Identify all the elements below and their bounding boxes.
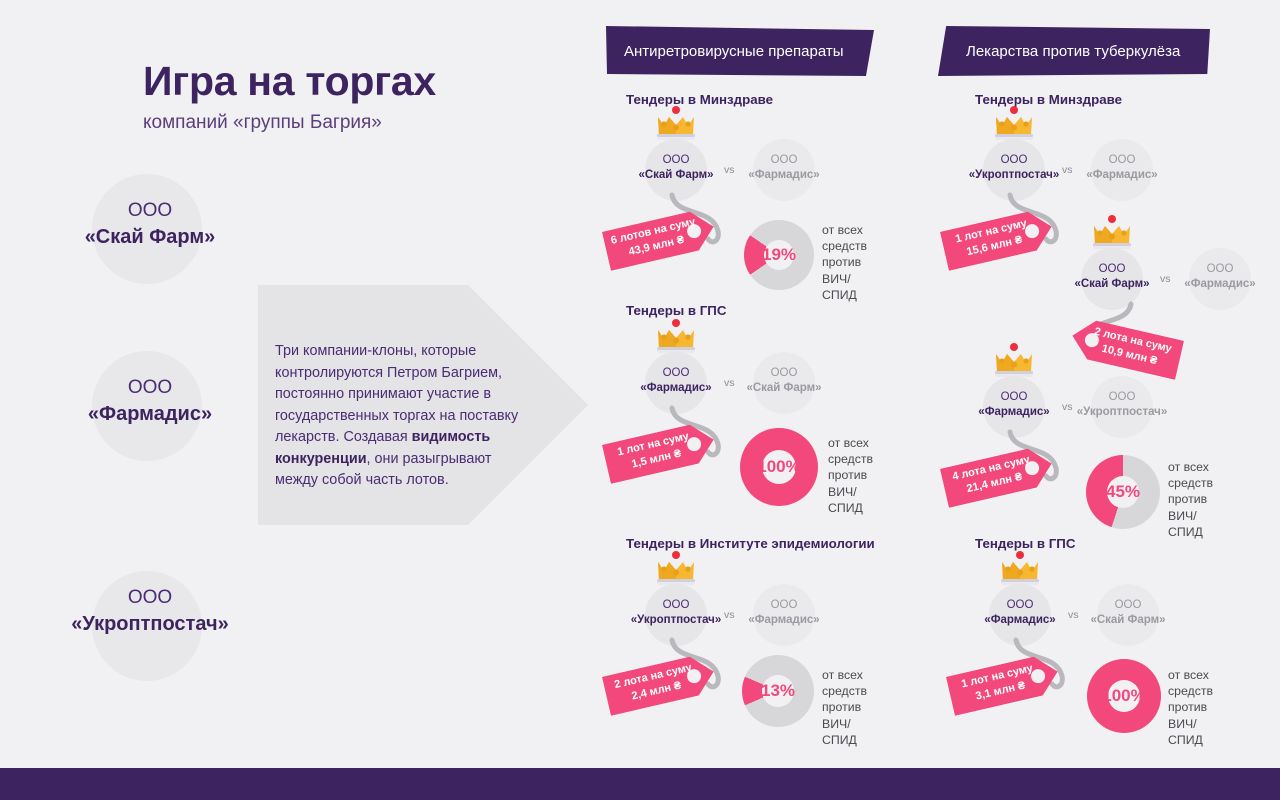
price-tag: 1 лот на суму 3,1 млн ₴ (946, 652, 1062, 716)
company-label-2: ООО «Фармадис» (0, 375, 300, 428)
donut-hole: 100% (1108, 680, 1141, 713)
donut-legend-line: ВИЧ/СПИД (1168, 508, 1213, 540)
footer-bar (0, 768, 1280, 800)
donut-legend-line: от всех (822, 222, 867, 238)
vs-label: vs (724, 164, 735, 176)
price-tag: 2 лота на суму 2,4 млн ₴ (602, 652, 718, 716)
company-label-1: ООО «Скай Фарм» (0, 198, 300, 251)
donut-legend: от всехсредствпротивВИЧ/СПИД (822, 222, 867, 303)
donut-percent-label: 19% (762, 245, 796, 265)
donut-hole: 19% (764, 240, 795, 271)
page-subtitle: компаний «группы Багрия» (143, 112, 382, 134)
donut-percent-label: 13% (761, 681, 795, 701)
donut-legend-line: средств (822, 683, 867, 699)
vs-label: vs (1062, 401, 1073, 413)
column-1-banner: Антиретровирусные препараты (606, 26, 874, 76)
page-title: Игра на торгах (143, 58, 436, 105)
block-heading: Тендеры в Минздраве (626, 92, 773, 107)
crown-icon (992, 343, 1036, 379)
company-3-line1: ООО (0, 585, 300, 611)
donut-percent-label: 100% (757, 457, 800, 477)
company-1-line2: «Скай Фарм» (0, 224, 300, 251)
donut-legend-line: от всех (822, 667, 867, 683)
donut-legend: от всехсредствпротивВИЧ/СПИД (1168, 459, 1213, 540)
donut-legend-line: ВИЧ/СПИД (822, 271, 867, 303)
callout-text: Три компании-клоны, которые контролируют… (275, 341, 525, 492)
donut-legend-line: ВИЧ/СПИД (1168, 716, 1213, 748)
crown-icon (654, 319, 698, 355)
donut-legend-line: против (1168, 491, 1213, 507)
donut-legend-line: средств (1168, 683, 1213, 699)
crown-icon (998, 551, 1042, 587)
block-heading: Тендеры в Институте эпидемиологии (626, 536, 875, 551)
price-tag: 1 лот на суму 1,5 млн ₴ (602, 420, 718, 484)
price-tag: 1 лот на суму 15,6 млн ₴ (940, 207, 1056, 271)
company-1-line1: ООО (0, 198, 300, 224)
donut-legend-line: от всех (1168, 667, 1213, 683)
donut-legend: от всехсредствпротивВИЧ/СПИД (828, 435, 873, 516)
loser-circle[interactable] (753, 584, 815, 646)
donut-legend-line: против (828, 467, 873, 483)
donut-legend: от всехсредствпротивВИЧ/СПИД (822, 667, 867, 748)
block-heading: Тендеры в ГПС (975, 536, 1075, 551)
price-tag: 4 лота на суму 21,4 млн ₴ (940, 444, 1056, 508)
donut-legend-line: ВИЧ/СПИД (828, 484, 873, 516)
vs-label: vs (1160, 273, 1171, 285)
crown-icon (1090, 215, 1134, 251)
donut-legend: от всехсредствпротивВИЧ/СПИД (1168, 667, 1213, 748)
column-2-banner: Лекарства против туберкулёза (938, 26, 1210, 76)
donut-legend-line: средств (822, 238, 867, 254)
company-3-line2: «Укроптпостач» (0, 611, 300, 638)
block-heading: Тендеры в ГПС (626, 303, 726, 318)
donut-percent-label: 100% (1102, 686, 1145, 706)
company-2-line2: «Фармадис» (0, 401, 300, 428)
loser-circle[interactable] (1091, 376, 1153, 438)
donut-legend-line: против (1168, 699, 1213, 715)
vs-label: vs (1068, 609, 1079, 621)
donut-legend-line: средств (1168, 475, 1213, 491)
donut-chart: 45% (1086, 455, 1160, 529)
vs-label: vs (724, 609, 735, 621)
donut-legend-line: против (822, 254, 867, 270)
column-2-banner-label: Лекарства против туберкулёза (966, 43, 1180, 60)
donut-hole: 13% (762, 675, 794, 707)
crown-icon (654, 551, 698, 587)
crown-icon (654, 106, 698, 142)
crown-icon (992, 106, 1036, 142)
donut-legend-line: от всех (1168, 459, 1213, 475)
donut-legend-line: ВИЧ/СПИД (822, 716, 867, 748)
block-heading: Тендеры в Минздраве (975, 92, 1122, 107)
infographic-canvas: Игра на торгах компаний «группы Багрия» … (0, 0, 1280, 800)
loser-circle[interactable] (1097, 584, 1159, 646)
vs-label: vs (724, 377, 735, 389)
column-1-banner-label: Антиретровирусные препараты (624, 43, 844, 60)
loser-circle[interactable] (753, 352, 815, 414)
loser-circle[interactable] (753, 139, 815, 201)
donut-hole: 100% (762, 450, 796, 484)
donut-hole: 45% (1107, 476, 1140, 509)
donut-legend-line: от всех (828, 435, 873, 451)
donut-chart: 13% (742, 655, 814, 727)
donut-chart: 100% (1087, 659, 1161, 733)
company-2-line1: ООО (0, 375, 300, 401)
donut-chart: 19% (744, 220, 814, 290)
vs-label: vs (1062, 164, 1073, 176)
donut-legend-line: средств (828, 451, 873, 467)
price-tag: 6 лотов на суму 43,9 млн ₴ (602, 207, 718, 271)
company-label-3: ООО «Укроптпостач» (0, 585, 300, 638)
donut-percent-label: 45% (1106, 482, 1140, 502)
donut-legend-line: против (822, 699, 867, 715)
loser-circle[interactable] (1189, 248, 1251, 310)
loser-circle[interactable] (1091, 139, 1153, 201)
donut-chart: 100% (740, 428, 818, 506)
